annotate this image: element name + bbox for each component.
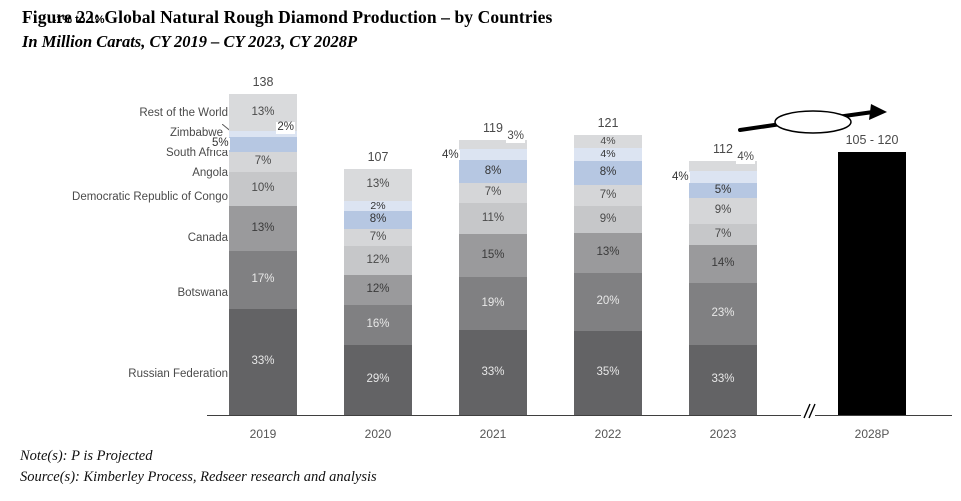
series-label-rest-of-the-world: Rest of the World bbox=[139, 108, 228, 120]
segment-value: 17% bbox=[251, 274, 274, 286]
x-tick-2020: 2020 bbox=[344, 428, 412, 440]
bar-2023[interactable]: 4% 4% 5% 9% 7% 14% 23% 33% bbox=[689, 161, 757, 415]
segment-value: 10% bbox=[251, 183, 274, 195]
axis-break-icon bbox=[795, 402, 821, 420]
segment-value: 33% bbox=[251, 356, 274, 368]
segment-value: 12% bbox=[366, 255, 389, 267]
segment-value: 23% bbox=[711, 308, 734, 320]
bar-2019[interactable]: 13% 2% 5% 7% 10% 13% 17% 33% bbox=[229, 94, 297, 415]
x-tick-2021: 2021 bbox=[459, 428, 527, 440]
segment-2019-south-africa[interactable]: 5% bbox=[229, 137, 297, 152]
segment-2020-angola[interactable]: 7% bbox=[344, 229, 412, 246]
segment-2019-russian-federation[interactable]: 33% bbox=[229, 309, 297, 415]
segment-2021-botswana[interactable]: 19% bbox=[459, 277, 527, 330]
bar-total-2021: 119 bbox=[459, 122, 527, 135]
segment-2021-zimbabwe[interactable]: 4% bbox=[459, 149, 527, 160]
segment-value: 8% bbox=[600, 167, 617, 179]
segment-2019-angola[interactable]: 7% bbox=[229, 152, 297, 172]
segment-2023-canada[interactable]: 14% bbox=[689, 245, 757, 283]
series-label-canada: Canada bbox=[188, 233, 228, 245]
segment-value: 5% bbox=[715, 185, 732, 197]
segment-value: 33% bbox=[711, 374, 734, 386]
bar-total-2022: 121 bbox=[574, 117, 642, 130]
x-tick-2028p: 2028P bbox=[838, 428, 906, 440]
segment-2021-rest-of-the-world[interactable]: 3% bbox=[459, 140, 527, 149]
x-axis-line bbox=[207, 415, 952, 416]
bar-total-2019: 138 bbox=[229, 76, 297, 89]
sources-line: Source(s): Kimberley Process, Redseer re… bbox=[20, 467, 377, 488]
x-tick-2023: 2023 bbox=[689, 428, 757, 440]
segment-2023-botswana[interactable]: 23% bbox=[689, 283, 757, 345]
segment-2022-rest-of-the-world[interactable]: 4% bbox=[574, 135, 642, 148]
segment-2022-russian-federation[interactable]: 35% bbox=[574, 331, 642, 415]
segment-2020-drc[interactable]: 12% bbox=[344, 246, 412, 275]
bar-2028p[interactable] bbox=[838, 152, 906, 415]
segment-value: 7% bbox=[370, 232, 387, 244]
segment-value: 7% bbox=[485, 187, 502, 199]
segment-value: 29% bbox=[366, 374, 389, 386]
segment-2021-south-africa[interactable]: 8% bbox=[459, 160, 527, 183]
segment-2022-zimbabwe[interactable]: 4% bbox=[574, 148, 642, 161]
segment-2021-drc[interactable]: 11% bbox=[459, 203, 527, 234]
segment-value: 7% bbox=[255, 156, 272, 168]
segment-2022-drc[interactable]: 9% bbox=[574, 206, 642, 233]
chart-plot-area: Rest of the World Zimbabwe South Africa … bbox=[0, 0, 961, 501]
segment-2019-drc[interactable]: 10% bbox=[229, 172, 297, 206]
segment-value: 14% bbox=[711, 258, 734, 270]
series-label-russian-federation: Russian Federation bbox=[128, 369, 228, 381]
cagr-label: -1% to 1% bbox=[0, 0, 155, 40]
segment-value: 8% bbox=[370, 214, 387, 226]
segment-2021-angola[interactable]: 7% bbox=[459, 183, 527, 203]
segment-2020-russian-federation[interactable]: 29% bbox=[344, 345, 412, 415]
series-label-botswana: Botswana bbox=[177, 288, 228, 300]
segment-2023-drc[interactable]: 7% bbox=[689, 224, 757, 245]
segment-value: 9% bbox=[715, 205, 732, 217]
segment-2022-canada[interactable]: 13% bbox=[574, 233, 642, 273]
segment-2022-angola[interactable]: 7% bbox=[574, 185, 642, 206]
segment-2020-canada[interactable]: 12% bbox=[344, 275, 412, 305]
series-label-zimbabwe: Zimbabwe bbox=[170, 128, 223, 140]
segment-2019-canada[interactable]: 13% bbox=[229, 206, 297, 251]
x-tick-2022: 2022 bbox=[574, 428, 642, 440]
segment-2020-south-africa[interactable]: 8% bbox=[344, 211, 412, 229]
segment-2022-south-africa[interactable]: 8% bbox=[574, 161, 642, 185]
segment-value: 13% bbox=[251, 107, 274, 119]
segment-2019-botswana[interactable]: 17% bbox=[229, 251, 297, 309]
segment-value: 16% bbox=[366, 319, 389, 331]
cagr-arrow-annotation bbox=[735, 103, 890, 143]
segment-2023-south-africa[interactable]: 5% bbox=[689, 183, 757, 198]
series-label-south-africa: South Africa bbox=[166, 148, 228, 160]
segment-value: 4% bbox=[600, 149, 615, 160]
segment-2020-botswana[interactable]: 16% bbox=[344, 305, 412, 345]
segment-value: 13% bbox=[596, 247, 619, 259]
segment-value: 7% bbox=[600, 190, 617, 202]
segment-value: 35% bbox=[596, 367, 619, 379]
segment-value: 11% bbox=[482, 213, 504, 225]
segment-2020-zimbabwe[interactable]: 2% bbox=[344, 201, 412, 211]
bar-total-2020: 107 bbox=[344, 151, 412, 164]
segment-2022-botswana[interactable]: 20% bbox=[574, 273, 642, 331]
series-label-angola: Angola bbox=[192, 168, 228, 180]
bar-2022[interactable]: 4% 4% 8% 7% 9% 13% 20% 35% bbox=[574, 135, 642, 415]
segment-value: 13% bbox=[366, 179, 389, 191]
segment-value: 9% bbox=[600, 214, 617, 226]
segment-2021-canada[interactable]: 15% bbox=[459, 234, 527, 277]
series-label-drc: Democratic Republic of Congo bbox=[72, 192, 228, 204]
segment-value: 4% bbox=[600, 136, 615, 147]
segment-value: 4% bbox=[441, 150, 460, 162]
bar-total-2023: 112 bbox=[689, 143, 757, 156]
segment-value: 8% bbox=[485, 166, 502, 178]
segment-2023-rest-of-the-world[interactable]: 4% bbox=[689, 161, 757, 171]
segment-value: 15% bbox=[481, 250, 504, 262]
x-tick-2019: 2019 bbox=[229, 428, 297, 440]
bar-2020[interactable]: 13% 2% 8% 7% 12% 12% 16% 29% bbox=[344, 169, 412, 415]
segment-value: 19% bbox=[481, 298, 504, 310]
segment-value: 20% bbox=[596, 296, 619, 308]
segment-2020-rest-of-the-world[interactable]: 13% bbox=[344, 169, 412, 201]
segment-2023-zimbabwe[interactable]: 4% bbox=[689, 171, 757, 183]
segment-value: 7% bbox=[715, 229, 732, 241]
bar-2021[interactable]: 3% 4% 8% 7% 11% 15% 19% 33% bbox=[459, 140, 527, 415]
footnotes: Note(s): P is Projected Source(s): Kimbe… bbox=[20, 446, 377, 488]
segment-value: 33% bbox=[481, 367, 504, 379]
segment-value: 2% bbox=[370, 201, 385, 212]
segment-2023-russian-federation[interactable]: 33% bbox=[689, 345, 757, 415]
segment-2023-angola[interactable]: 9% bbox=[689, 198, 757, 224]
notes-line: Note(s): P is Projected bbox=[20, 446, 377, 467]
segment-2019-rest-of-the-world[interactable]: 13% bbox=[229, 94, 297, 131]
segment-2021-russian-federation[interactable]: 33% bbox=[459, 330, 527, 415]
segment-value: 4% bbox=[671, 172, 690, 184]
segment-value: 13% bbox=[251, 223, 274, 235]
segment-value: 12% bbox=[366, 284, 389, 296]
